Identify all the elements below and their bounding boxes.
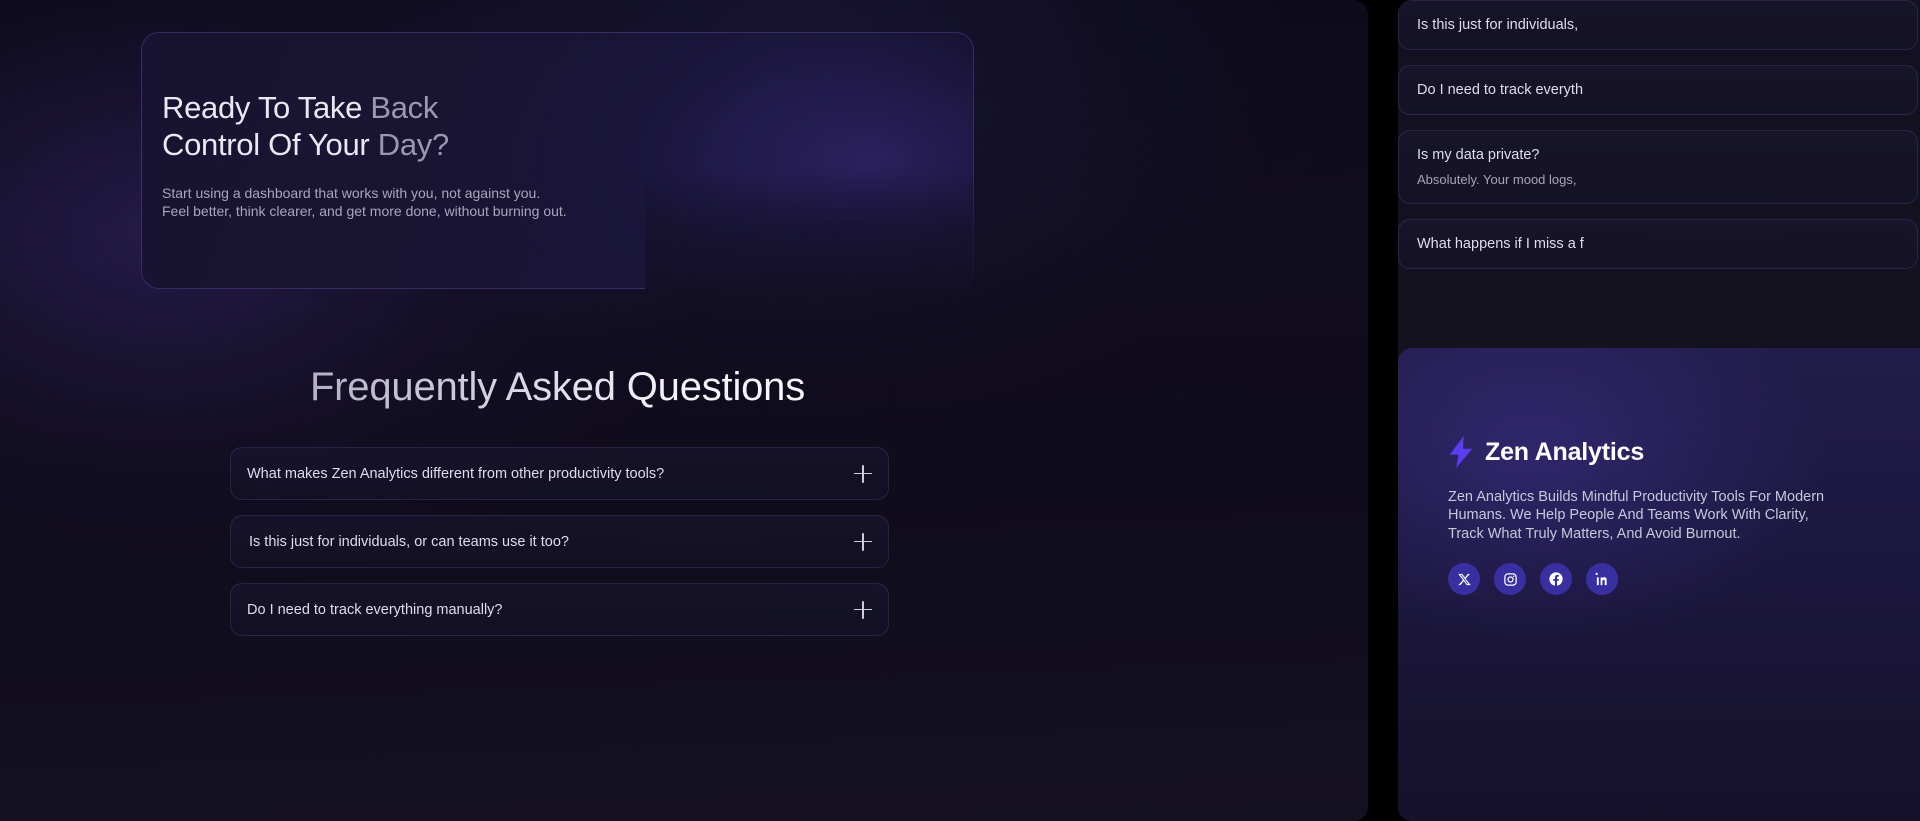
x-twitter-icon[interactable] xyxy=(1448,563,1480,595)
faq-list: What makes Zen Analytics different from … xyxy=(230,447,889,651)
cta-heading-line1-strong: Ready To Take xyxy=(162,90,370,125)
footer-brand-name: Zen Analytics xyxy=(1485,438,1644,467)
faq-item[interactable]: Is this just for individuals, xyxy=(1398,0,1918,50)
mock-bottom-fade xyxy=(645,169,975,289)
faq-item[interactable]: What happens if I miss a f xyxy=(1398,219,1918,269)
plus-icon[interactable] xyxy=(854,601,872,619)
faq-item[interactable]: Do I need to track everyth xyxy=(1398,65,1918,115)
faq-title: Frequently Asked Questions xyxy=(0,365,1115,410)
left-page-panel: Ready To Take BackControl Of Your Day? S… xyxy=(0,0,1368,821)
faq-item[interactable]: Is this just for individuals, or can tea… xyxy=(230,515,889,568)
facebook-icon[interactable] xyxy=(1540,563,1572,595)
plus-icon[interactable] xyxy=(854,465,872,483)
cta-heading-line2-strong: Control Of Your xyxy=(162,127,378,162)
cta-heading-line1-dim: Back xyxy=(370,90,438,125)
faq-question: Is this just for individuals, xyxy=(1417,17,1899,33)
faq-question: Do I need to track everything manually? xyxy=(231,602,503,618)
faq-answer: Absolutely. Your mood logs, xyxy=(1417,172,1899,187)
faq-question: Is this just for individuals, or can tea… xyxy=(231,534,569,550)
lightning-bolt-icon xyxy=(1448,436,1474,468)
cta-heading-line2-dim: Day? xyxy=(378,127,449,162)
cta-subtext: Start using a dashboard that works with … xyxy=(162,185,632,220)
faq-question: What happens if I miss a f xyxy=(1417,236,1899,252)
linkedin-icon[interactable] xyxy=(1586,563,1618,595)
footer-description: Zen Analytics Builds Mindful Productivit… xyxy=(1448,488,1848,543)
cta-heading: Ready To Take BackControl Of Your Day? xyxy=(162,89,632,163)
screenshot-root: Ready To Take BackControl Of Your Day? S… xyxy=(0,0,1920,821)
faq-question: Do I need to track everyth xyxy=(1417,82,1899,98)
site-footer: Zen Analytics Zen Analytics Builds Mindf… xyxy=(1398,348,1920,821)
faq-item[interactable]: Do I need to track everything manually? xyxy=(230,583,889,636)
right-page-panel: Is this just for individuals,Do I need t… xyxy=(1398,0,1920,821)
faq-question: Is my data private? xyxy=(1417,147,1899,163)
footer-brand: Zen Analytics xyxy=(1448,436,1644,468)
plus-icon[interactable] xyxy=(854,533,872,551)
dashboard-mock-clip: Overview Tasks Activity xyxy=(645,32,975,289)
right-faq-list: Is this just for individuals,Do I need t… xyxy=(1398,0,1920,284)
instagram-icon[interactable] xyxy=(1494,563,1526,595)
footer-socials xyxy=(1448,563,1618,595)
faq-item[interactable]: Is my data private?Absolutely. Your mood… xyxy=(1398,130,1918,204)
faq-question: What makes Zen Analytics different from … xyxy=(231,466,664,482)
faq-item[interactable]: What makes Zen Analytics different from … xyxy=(230,447,889,500)
cta-copy: Ready To Take BackControl Of Your Day? S… xyxy=(162,89,632,221)
